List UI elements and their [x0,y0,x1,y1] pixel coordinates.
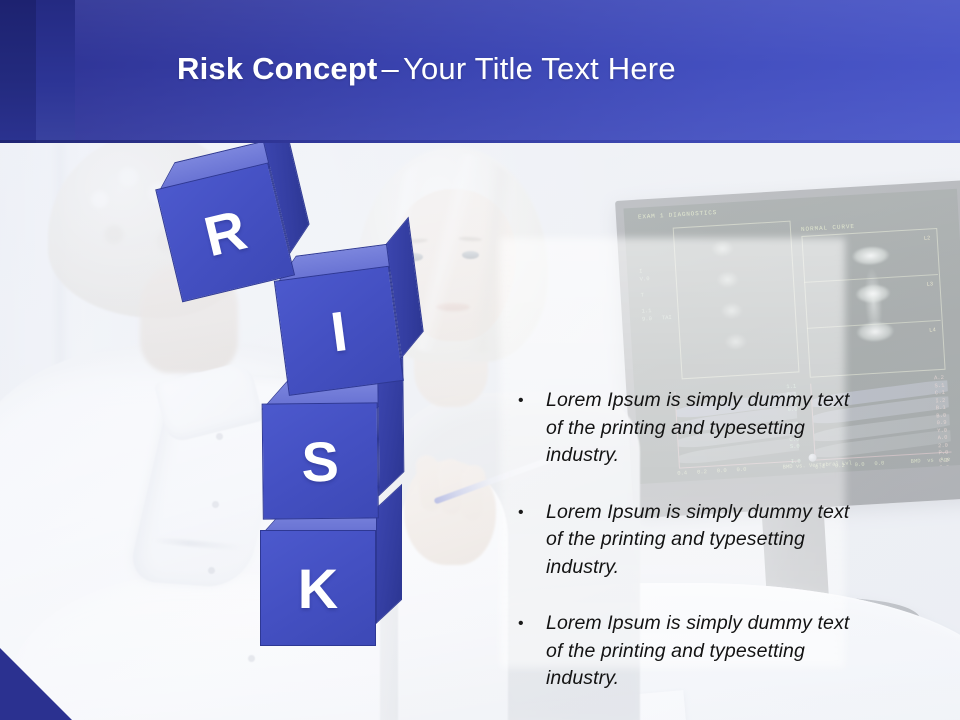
header-banner: Risk Concept–Your Title Text Here [0,0,960,143]
bullet-marker-icon: • [512,387,546,470]
header-dark-stripe [0,0,36,143]
risk-cube-s: S [261,380,378,497]
page-title: Risk Concept–Your Title Text Here [177,50,676,88]
cube-i-letter: I [274,266,404,396]
header-mid-stripe [36,0,75,143]
title-light: Your Title Text Here [403,51,676,86]
bullet-item-1: • Lorem Ipsum is simply dummy text of th… [512,387,852,470]
bullet-text-1: Lorem Ipsum is simply dummy text of the … [546,387,852,470]
bullet-text-2: Lorem Ipsum is simply dummy text of the … [546,499,852,582]
bullet-text-3: Lorem Ipsum is simply dummy text of the … [546,610,852,693]
cube-k-letter: K [260,530,376,646]
bullet-marker-icon: • [512,499,546,582]
bullet-list: • Lorem Ipsum is simply dummy text of th… [512,387,852,720]
photo-stage: EXAM 1 DIAGNOSTICS NORMAL CURVE I V.0 T … [0,143,960,720]
title-dash: – [378,51,403,86]
risk-cube-k: K [260,508,376,624]
cube-k-side-face [376,484,402,624]
bullet-item-2: • Lorem Ipsum is simply dummy text of th… [512,499,852,582]
bullet-item-3: • Lorem Ipsum is simply dummy text of th… [512,610,852,693]
header-bottom-line [0,140,960,143]
bottom-left-corner-wedge [0,648,72,720]
slide-root: Risk Concept–Your Title Text Here EXAM 1… [0,0,960,720]
cube-s-letter: S [262,402,379,519]
risk-cube-r: R [150,143,290,281]
bullet-marker-icon: • [512,610,546,693]
title-strong: Risk Concept [177,51,378,86]
